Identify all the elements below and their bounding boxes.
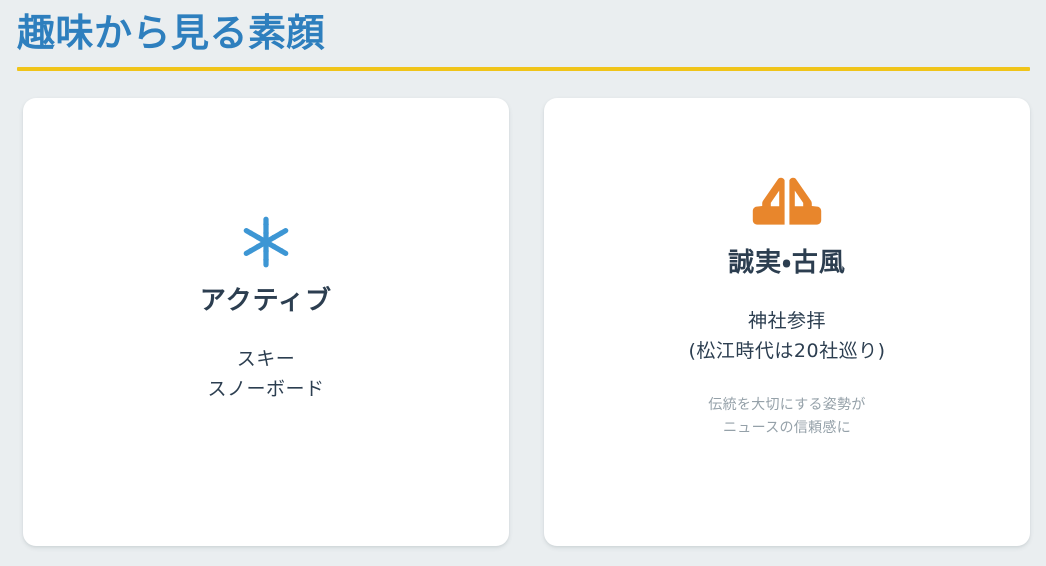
- page-header: 趣味から見る素顔: [0, 0, 1046, 58]
- card-content: アクティブ スキー スノーボード: [23, 214, 509, 404]
- card-body-line: スキー: [23, 344, 509, 374]
- card-body: スキー スノーボード: [23, 344, 509, 404]
- card-body-line: スノーボード: [23, 374, 509, 404]
- praying-hands-icon: [544, 176, 1030, 232]
- title-underline-rule: [17, 67, 1030, 71]
- card-body-line: 神社参拝: [544, 306, 1030, 336]
- hobby-card-sincere[interactable]: 誠実・古風 神社参拝 (松江時代は20社巡り) 伝統を大切にする姿勢が ニュース…: [544, 98, 1030, 546]
- page-title: 趣味から見る素顔: [0, 0, 1046, 58]
- hobby-card-active[interactable]: アクティブ スキー スノーボード: [23, 98, 509, 546]
- card-note-line: 伝統を大切にする姿勢が: [544, 394, 1030, 417]
- card-heading: 誠実・古風: [544, 246, 1030, 280]
- card-grid: アクティブ スキー スノーボード: [23, 98, 1030, 546]
- card-heading: アクティブ: [23, 284, 509, 318]
- card-content: 誠実・古風 神社参拝 (松江時代は20社巡り) 伝統を大切にする姿勢が ニュース…: [544, 176, 1030, 440]
- card-body-line: (松江時代は20社巡り): [544, 336, 1030, 366]
- card-body: 神社参拝 (松江時代は20社巡り): [544, 306, 1030, 366]
- card-note: 伝統を大切にする姿勢が ニュースの信頼感に: [544, 394, 1030, 440]
- card-note-line: ニュースの信頼感に: [544, 417, 1030, 440]
- page-root: 趣味から見る素顔: [0, 0, 1046, 566]
- snowflake-icon: [23, 214, 509, 270]
